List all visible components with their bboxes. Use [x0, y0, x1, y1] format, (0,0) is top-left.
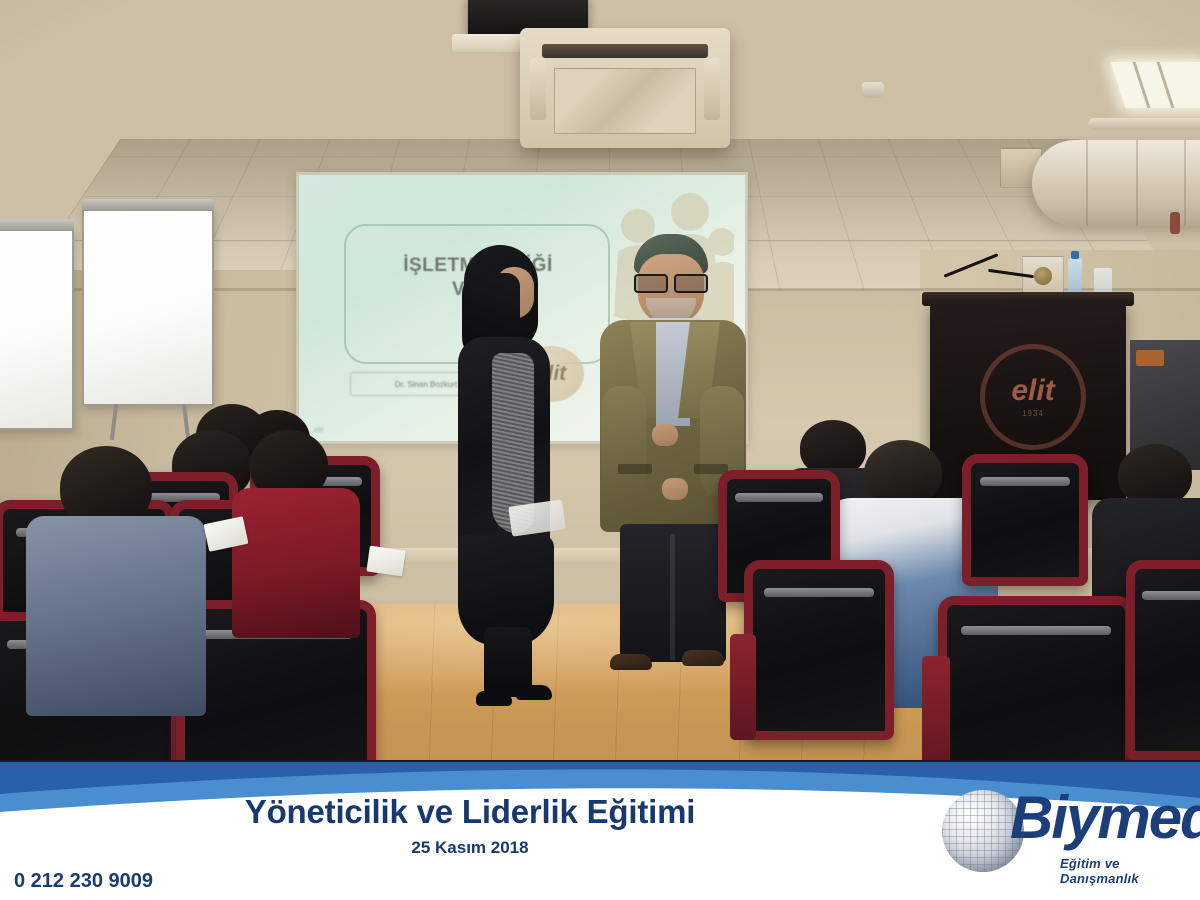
woman-held-papers [508, 499, 566, 536]
audience-person-red-scarf [250, 430, 328, 500]
duct-rib-1 [1086, 140, 1088, 226]
event-banner: Yöneticilik ve Liderlik Eğitimi 25 Kasım… [0, 760, 1200, 900]
ac-vane-left [530, 58, 546, 120]
seat-mid-right-1 [744, 560, 894, 740]
seat-headrest-band [1142, 591, 1200, 600]
seat-front-right-1 [938, 596, 1134, 786]
brand-tagline: Eğitim ve Danışmanlık [1060, 856, 1200, 886]
flipchart-left-clip [0, 219, 74, 231]
lectern-logo-subtext: 1934 [1022, 409, 1044, 418]
duct-rib-3 [1184, 140, 1186, 226]
seat-headrest-band [961, 626, 1111, 635]
audience-person-blue-shirt [60, 446, 152, 528]
cabinet-box [1136, 350, 1164, 366]
banner-title: Yöneticilik ve Liderlik Eğitimi [0, 793, 940, 831]
seminar-photo: İŞLETME V LİĞİ VE İD elit Dr. Sinan Bozk… [0, 0, 1200, 790]
body [232, 488, 360, 638]
head [864, 440, 942, 506]
body [26, 516, 206, 716]
lectern-elit-logo: elit 1934 [980, 344, 1086, 450]
brand-name: Biymed [1010, 788, 1200, 848]
contact-phone: 0 212 230 9009 [14, 870, 153, 893]
man-arm-left [602, 386, 646, 496]
man-eyeglasses [634, 274, 708, 289]
flipchart-left [0, 228, 74, 430]
ceiling-pipe [1088, 118, 1200, 130]
audience-person-right-back [800, 420, 866, 476]
banner-date: 25 Kasım 2018 [0, 838, 940, 858]
seat-back [744, 560, 894, 740]
seat-back [938, 596, 1134, 786]
audience-person-far-right [1118, 444, 1192, 506]
seat-headrest-band [980, 477, 1071, 486]
man-hand-upper [652, 424, 678, 446]
seat-back-right-2 [962, 454, 1088, 586]
seat-headrest-band [764, 588, 875, 597]
biymed-logo: Biymed Eğitim ve Danışmanlık [932, 782, 1200, 894]
seat-headrest-band [735, 493, 822, 502]
man-shoe-left [610, 654, 652, 670]
handout-paper-right [366, 546, 405, 577]
ceiling-ac-cassette [520, 28, 730, 148]
seat-back [1126, 560, 1200, 760]
seat-front-right-2 [1126, 560, 1200, 760]
lectern-logo-text: elit [1011, 376, 1054, 406]
presenter-woman [440, 245, 570, 685]
flipchart-left-sheet [0, 228, 74, 430]
ceiling-light-far-right [1111, 62, 1200, 108]
man-trouser-seam [670, 534, 675, 660]
seat-back [962, 454, 1088, 586]
ac-vane-right [704, 58, 720, 120]
flipchart-right-sheet [82, 208, 214, 406]
plaque-medallion [1034, 267, 1052, 285]
audience-person-bun-jacket [864, 440, 942, 506]
duct-hanging-tag [1170, 212, 1180, 234]
woman-shoe-left [476, 691, 512, 706]
man-hand-lower [662, 478, 688, 500]
man-shoe-right [682, 650, 724, 666]
head [1118, 444, 1192, 506]
poster-frame: İŞLETME V LİĞİ VE İD elit Dr. Sinan Bozk… [0, 0, 1200, 900]
seat-armrest-wood [730, 634, 756, 740]
flipchart-right [82, 208, 214, 406]
smoke-detector [862, 82, 884, 98]
duct-rib-2 [1136, 140, 1138, 226]
man-pocket-left [618, 464, 652, 474]
presenter-man [588, 234, 756, 684]
woman-shoe-right [516, 685, 552, 700]
flipchart-right-clip [82, 199, 214, 211]
bottle-cap [1071, 251, 1079, 259]
